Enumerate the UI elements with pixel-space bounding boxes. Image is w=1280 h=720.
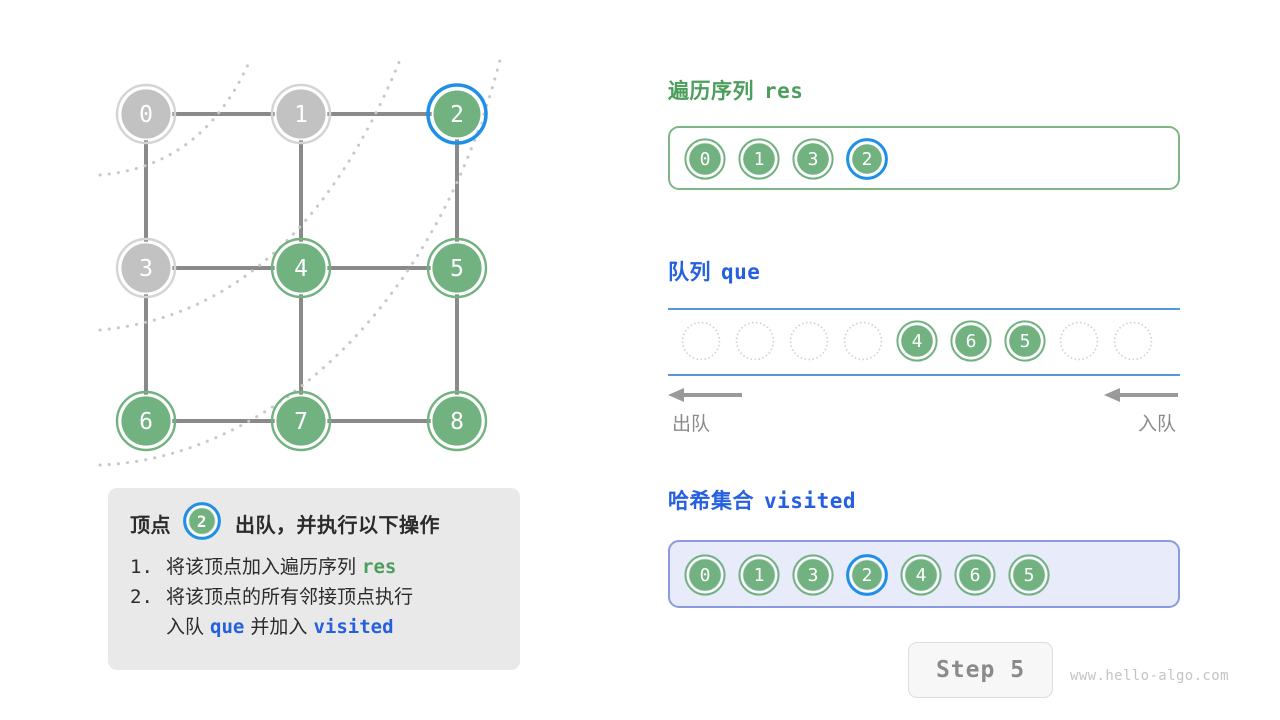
visited-title-cn: 哈希集合 xyxy=(668,489,754,513)
graph-node-3[interactable]: 3 xyxy=(117,239,175,297)
caption-step-row: 入队 que 并加入 visited xyxy=(130,612,500,642)
queue-rail-top xyxy=(668,308,1180,310)
watermark: www.hello-algo.com xyxy=(1070,668,1229,684)
que-title-code: que xyxy=(721,260,760,284)
right-panel: 遍历序列res 0132 队列que 465 出队 入队 哈希集合visited… xyxy=(620,0,1280,720)
caption-text-run: 并加入 xyxy=(244,616,313,638)
caption-head-suffix: 出队，并执行以下操作 xyxy=(235,509,440,538)
graph-panel: 012345678 顶点 2 出队，并执行以下操作 1.将该顶点加入遍历序列 r… xyxy=(0,0,620,720)
svg-text:1: 1 xyxy=(754,149,765,170)
vertex-token: 5 xyxy=(1004,320,1046,362)
caption-step-list: 1.将该顶点加入遍历序列 res2.将该顶点的所有邻接顶点执行入队 que 并加… xyxy=(130,552,500,642)
vertex-token: 4 xyxy=(900,554,942,596)
visited-item-list: 0132465 xyxy=(684,554,1050,596)
dequeue-indicator: 出队 xyxy=(668,385,744,409)
enqueue-label: 入队 xyxy=(1138,409,1176,436)
vertex-token: 1 xyxy=(738,554,780,596)
caption-step-row: 1.将该顶点加入遍历序列 res xyxy=(130,552,500,582)
visited-title-code: visited xyxy=(764,489,856,513)
arrow-left-icon xyxy=(1104,385,1180,405)
caption-step-number: 2. xyxy=(130,582,166,612)
que-title-cn: 队列 xyxy=(668,260,711,284)
graph-node-0[interactable]: 0 xyxy=(117,85,175,143)
vertex-token: 0 xyxy=(684,554,726,596)
res-section-title: 遍历序列res xyxy=(668,75,803,105)
caption-text-run: 入队 xyxy=(166,616,210,638)
caption-box: 顶点 2 出队，并执行以下操作 1.将该顶点加入遍历序列 res2.将该顶点的所… xyxy=(108,488,520,670)
dequeue-label: 出队 xyxy=(672,409,710,436)
res-container: 0132 xyxy=(668,126,1180,190)
graph-node-label: 7 xyxy=(294,409,308,435)
graph-svg: 012345678 xyxy=(0,0,620,500)
svg-text:0: 0 xyxy=(700,565,711,586)
vertex-token: 3 xyxy=(792,138,834,180)
vertex-token: 1 xyxy=(738,138,780,180)
svg-text:1: 1 xyxy=(754,565,765,586)
vertex-token: 2 xyxy=(846,138,888,180)
res-title-cn: 遍历序列 xyxy=(668,79,754,103)
vertex-token: 4 xyxy=(896,320,938,362)
graph-node-label: 2 xyxy=(450,102,464,128)
caption-head-prefix: 顶点 xyxy=(130,509,171,538)
graph-node-label: 8 xyxy=(450,409,464,435)
empty-slot xyxy=(1058,320,1100,362)
queue-slot-list: 465 xyxy=(680,320,1154,362)
vertex-token: 6 xyxy=(950,320,992,362)
vertex-token: 0 xyxy=(684,138,726,180)
caption-step-text: 入队 que 并加入 visited xyxy=(166,612,500,642)
caption-vertex-badge: 2 xyxy=(183,502,221,545)
graph-node-2[interactable]: 2 xyxy=(428,85,486,143)
svg-text:4: 4 xyxy=(916,565,927,586)
svg-text:2: 2 xyxy=(862,565,873,586)
res-title-code: res xyxy=(764,79,803,103)
caption-step-number: 1. xyxy=(130,552,166,582)
arrow-left-icon xyxy=(668,385,744,405)
vertex-token: 5 xyxy=(1008,554,1050,596)
graph-node-label: 3 xyxy=(139,256,153,282)
caption-headline: 顶点 2 出队，并执行以下操作 xyxy=(130,504,500,542)
step-badge: Step 5 xyxy=(908,642,1053,698)
visited-section-title: 哈希集合visited xyxy=(668,485,856,515)
svg-text:3: 3 xyxy=(808,149,819,170)
visited-container: 0132465 xyxy=(668,540,1180,608)
graph-node-label: 4 xyxy=(294,256,308,282)
svg-text:3: 3 xyxy=(808,565,819,586)
svg-text:6: 6 xyxy=(966,331,977,352)
svg-text:6: 6 xyxy=(970,565,981,586)
graph-node-6[interactable]: 6 xyxy=(117,392,175,450)
graph-node-8[interactable]: 8 xyxy=(428,392,486,450)
svg-text:2: 2 xyxy=(862,149,873,170)
svg-text:5: 5 xyxy=(1020,331,1031,352)
graph-node-label: 0 xyxy=(139,102,153,128)
empty-slot xyxy=(842,320,884,362)
graph-node-layer: 012345678 xyxy=(117,85,486,450)
caption-step-row: 2.将该顶点的所有邻接顶点执行 xyxy=(130,582,500,612)
que-section-title: 队列que xyxy=(668,256,760,286)
empty-slot xyxy=(734,320,776,362)
vertex-token: 6 xyxy=(954,554,996,596)
empty-slot xyxy=(1112,320,1154,362)
caption-text-run: 将该顶点的所有邻接顶点执行 xyxy=(166,586,413,608)
graph-node-1[interactable]: 1 xyxy=(272,85,330,143)
svg-text:0: 0 xyxy=(700,149,711,170)
vertex-token: 2 xyxy=(846,554,888,596)
caption-text-run: 将该顶点加入遍历序列 xyxy=(166,556,362,578)
caption-step-number xyxy=(130,612,166,642)
graph-node-label: 5 xyxy=(450,256,464,282)
caption-step-text: 将该顶点加入遍历序列 res xyxy=(166,552,500,582)
caption-step-text: 将该顶点的所有邻接顶点执行 xyxy=(166,582,500,612)
graph-node-4[interactable]: 4 xyxy=(272,239,330,297)
vertex-token: 3 xyxy=(792,554,834,596)
svg-text:5: 5 xyxy=(1024,565,1035,586)
graph-node-7[interactable]: 7 xyxy=(272,392,330,450)
graph-node-label: 1 xyxy=(294,102,308,128)
caption-code-run: res xyxy=(362,556,396,578)
queue-rail-bottom xyxy=(668,374,1180,376)
empty-slot xyxy=(788,320,830,362)
svg-text:4: 4 xyxy=(912,331,923,352)
res-item-list: 0132 xyxy=(684,138,888,180)
svg-text:2: 2 xyxy=(197,512,207,531)
empty-slot xyxy=(680,320,722,362)
caption-code-run: visited xyxy=(313,616,393,638)
graph-node-label: 6 xyxy=(139,409,153,435)
enqueue-indicator: 入队 xyxy=(1104,385,1180,409)
caption-code-run: que xyxy=(210,616,244,638)
graph-node-5[interactable]: 5 xyxy=(428,239,486,297)
